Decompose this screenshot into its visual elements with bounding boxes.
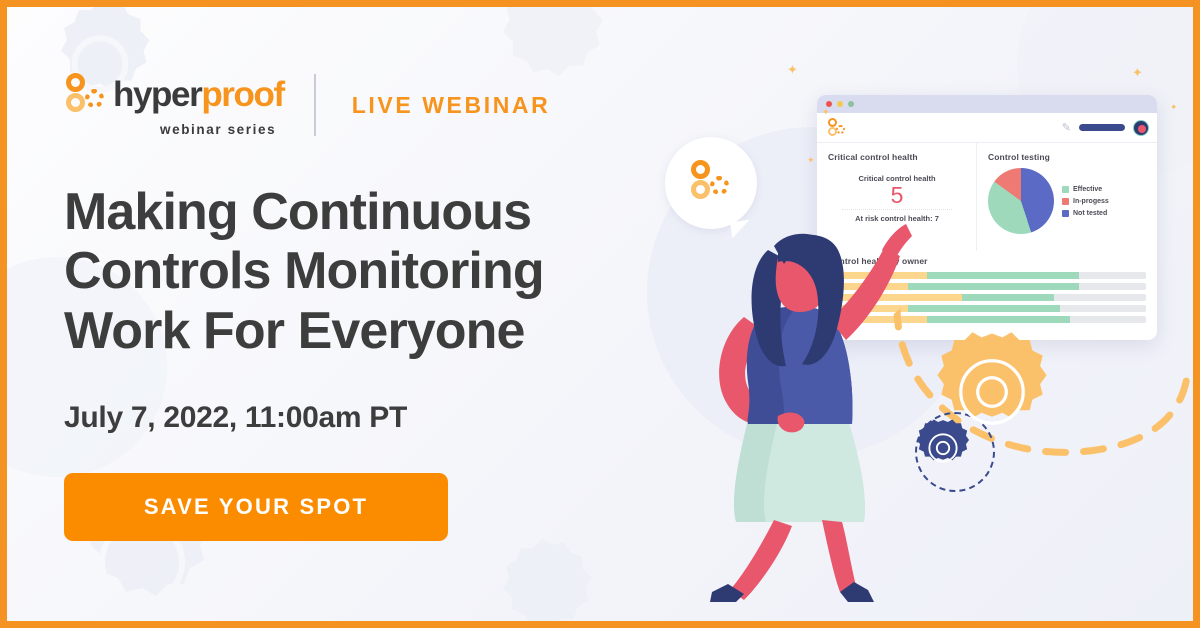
table-row [828, 316, 1146, 323]
control-testing-pie-chart [988, 168, 1054, 234]
background-gear-icon [467, 527, 617, 628]
gear-icon [927, 327, 1057, 457]
table-row [828, 272, 1146, 279]
legend-label: Not tested [1073, 210, 1107, 217]
sparkle-icon: ✦ [1132, 65, 1143, 81]
control-testing-panel: Control testing Effective In-progess [977, 143, 1157, 251]
sparkle-icon: ✦ [807, 155, 815, 166]
owner-bar-chart [828, 272, 1146, 323]
divider [842, 209, 952, 210]
legend-swatch [1062, 198, 1069, 205]
dashboard-panels: Critical control health Critical control… [817, 143, 1157, 251]
kpi-footnote: At risk control health: 7 [828, 214, 966, 223]
page-title: Making Continuous Controls Monitoring Wo… [64, 183, 639, 361]
panel-title: Critical control health [828, 152, 966, 162]
zoom-icon[interactable] [848, 101, 854, 107]
pie-legend: Effective In-progess Not tested [1062, 186, 1109, 217]
background-halo [647, 127, 977, 457]
hyperproof-rings-icon [64, 73, 106, 115]
poster-content: hyperproof webinar series LIVE WEBINAR M… [64, 69, 684, 541]
dashboard-navbar: ✎ [817, 113, 1157, 143]
sparkle-icon: ✦ [822, 107, 830, 118]
webinar-datetime: July 7, 2022, 11:00am PT [64, 401, 684, 435]
legend-swatch [1062, 210, 1069, 217]
minimize-icon[interactable] [837, 101, 843, 107]
legend-label: In-progess [1073, 198, 1109, 205]
legend-label: Effective [1073, 186, 1102, 193]
hyperproof-logo[interactable]: hyperproof webinar series [64, 73, 284, 137]
background-circle [1017, 0, 1200, 177]
critical-control-health-panel: Critical control health Critical control… [817, 143, 977, 251]
live-webinar-label: LIVE WEBINAR [352, 92, 551, 119]
hyperproof-rings-icon [689, 160, 731, 202]
gear-icon [912, 417, 974, 479]
legend-swatch [1062, 186, 1069, 193]
orbit-ring-navy [915, 412, 995, 492]
save-your-spot-button[interactable]: SAVE YOUR SPOT [64, 473, 448, 541]
kpi-label: Critical control health [828, 174, 966, 183]
sparkle-icon: ✦ [1170, 102, 1178, 113]
control-health-by-owner-panel: Control health by owner [817, 251, 1157, 323]
window-titlebar [817, 95, 1157, 113]
brand-bar: hyperproof webinar series LIVE WEBINAR [64, 69, 684, 141]
hyperproof-rings-icon[interactable] [827, 118, 846, 137]
legend-item: Effective [1062, 186, 1109, 193]
woman-pointing-illustration [682, 192, 912, 602]
dashboard-window: ✎ Critical control health Critical contr… [817, 95, 1157, 340]
table-row [828, 305, 1146, 312]
table-row [828, 294, 1146, 301]
wordmark-hyper: hyper [113, 75, 201, 114]
logo-subtitle: webinar series [160, 122, 284, 137]
sparkle-icon: ✦ [787, 62, 798, 78]
wordmark-proof: proof [201, 75, 283, 114]
vertical-divider [314, 74, 316, 136]
panel-title: Control testing [988, 152, 1147, 162]
webinar-promo-poster: hyperproof webinar series LIVE WEBINAR M… [0, 0, 1200, 628]
table-row [828, 283, 1146, 290]
avatar[interactable] [1133, 120, 1149, 136]
close-icon[interactable] [826, 101, 832, 107]
illustration-area: ✦ ✦ ✦ ✦ ✦ [627, 7, 1200, 621]
legend-item: Not tested [1062, 210, 1109, 217]
pin-icon[interactable]: ✎ [1062, 121, 1071, 134]
panel-title: Control health by owner [828, 256, 1146, 266]
search-pill[interactable] [1079, 124, 1125, 131]
orbit-dashes [862, 267, 1192, 497]
kpi-value: 5 [828, 183, 966, 207]
hyperproof-wordmark: hyperproof [113, 77, 284, 112]
legend-item: In-progess [1062, 198, 1109, 205]
